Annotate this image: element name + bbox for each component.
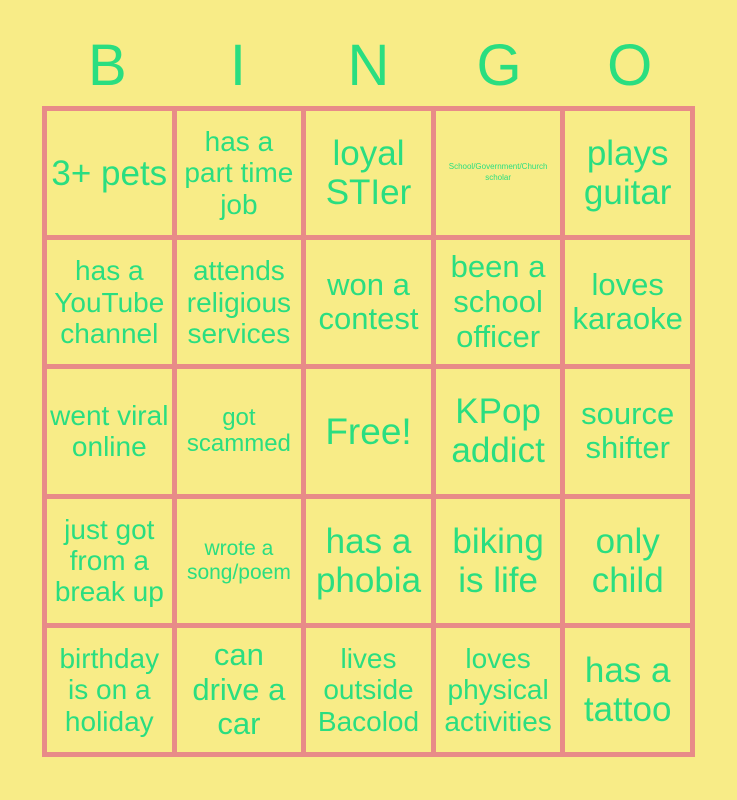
- bingo-cell-r1-c2[interactable]: has a part time job: [177, 111, 302, 235]
- header-letter-i: I: [230, 37, 246, 95]
- bingo-cell-r3-c1[interactable]: went viral online: [47, 369, 172, 493]
- bingo-grid: 3+ petshas a part time jobloyal STIerSch…: [42, 106, 695, 757]
- bingo-cell-r2-c5[interactable]: loves karaoke: [565, 240, 690, 364]
- bingo-cell-r5-c3[interactable]: lives outside Bacolod: [306, 628, 431, 752]
- bingo-header: B I N G O: [42, 30, 695, 102]
- bingo-cell-r1-c4[interactable]: School/Government/Church scholar: [436, 111, 561, 235]
- bingo-cell-r2-c2[interactable]: attends religious services: [177, 240, 302, 364]
- header-letter-b: B: [88, 37, 127, 95]
- bingo-cell-r5-c2[interactable]: can drive a car: [177, 628, 302, 752]
- bingo-card: B I N G O 3+ petshas a part time jobloya…: [0, 0, 737, 800]
- bingo-cell-r5-c4[interactable]: loves physical activities: [436, 628, 561, 752]
- header-letter-n: N: [348, 37, 390, 95]
- bingo-cell-r2-c4[interactable]: been a school officer: [436, 240, 561, 364]
- bingo-cell-r3-c4[interactable]: KPop addict: [436, 369, 561, 493]
- bingo-cell-r3-c2[interactable]: got scammed: [177, 369, 302, 493]
- bingo-cell-r4-c3[interactable]: has a phobia: [306, 499, 431, 623]
- bingo-cell-r4-c2[interactable]: wrote a song/poem: [177, 499, 302, 623]
- header-letter-o: O: [607, 37, 652, 95]
- bingo-cell-r1-c1[interactable]: 3+ pets: [47, 111, 172, 235]
- bingo-cell-r5-c1[interactable]: birthday is on a holiday: [47, 628, 172, 752]
- bingo-cell-r4-c1[interactable]: just got from a break up: [47, 499, 172, 623]
- bingo-cell-r4-c4[interactable]: biking is life: [436, 499, 561, 623]
- bingo-cell-r3-c5[interactable]: source shifter: [565, 369, 690, 493]
- header-letter-g: G: [477, 37, 522, 95]
- bingo-cell-r1-c3[interactable]: loyal STIer: [306, 111, 431, 235]
- bingo-cell-r1-c5[interactable]: plays guitar: [565, 111, 690, 235]
- bingo-cell-r4-c5[interactable]: only child: [565, 499, 690, 623]
- bingo-cell-free[interactable]: Free!: [306, 369, 431, 493]
- bingo-cell-r2-c3[interactable]: won a contest: [306, 240, 431, 364]
- bingo-cell-r5-c5[interactable]: has a tattoo: [565, 628, 690, 752]
- bingo-cell-r2-c1[interactable]: has a YouTube channel: [47, 240, 172, 364]
